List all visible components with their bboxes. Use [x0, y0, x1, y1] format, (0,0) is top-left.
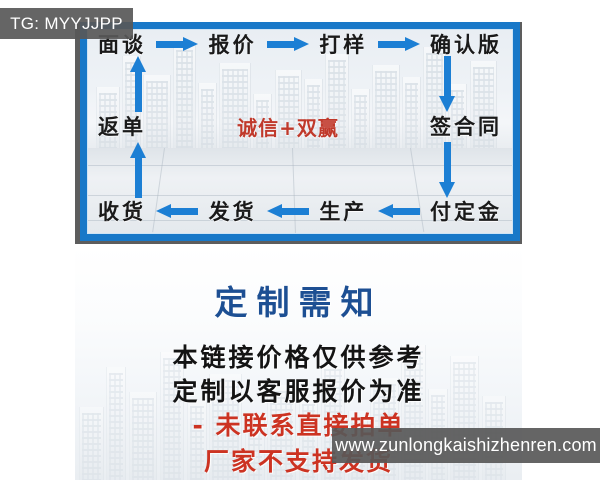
arrow-right-icon-2 — [267, 37, 309, 51]
flow-node-bao-jia: 报价 — [209, 29, 257, 59]
arrow-right-icon-1 — [156, 37, 198, 51]
flow-node-fan-dan: 返单 — [98, 111, 146, 141]
screenshot-canvas: 面谈 报价 打样 确认版 返单 诚 — [0, 0, 600, 480]
watermark-telegram-handle: TG: MYYJJPP — [0, 8, 133, 39]
flow-node-fa-huo: 发货 — [209, 196, 257, 226]
arrow-up-icon-left-upper — [130, 56, 146, 112]
notice-line-price-reference: 本链接价格仅供参考 — [75, 338, 522, 374]
flow-row-bottom: 收货 发货 生产 付定金 — [88, 193, 512, 229]
flow-chart-inner: 面谈 报价 打样 确认版 返单 诚 — [87, 29, 513, 234]
arrow-left-icon-1 — [156, 204, 198, 218]
arrow-up-icon-left-lower — [130, 142, 146, 198]
slogan-cheng-xin-shuang-ying: 诚信+双赢 — [237, 112, 339, 141]
flow-node-shou-huo: 收货 — [98, 196, 146, 226]
flow-chart-panel: 面谈 报价 打样 确认版 返单 诚 — [75, 22, 522, 244]
flow-row-middle: 返单 诚信+双赢 签合同 — [88, 108, 512, 144]
flow-node-da-yang: 打样 — [319, 29, 367, 59]
flow-node-que-ren-ban: 确认版 — [430, 29, 502, 59]
notice-line-quote-authority: 定制以客服报价为准 — [75, 372, 522, 408]
watermark-website-url: www.zunlongkaishizhenren.com — [332, 428, 600, 463]
flow-node-sheng-chan: 生产 — [319, 196, 367, 226]
flow-node-qian-he-tong: 签合同 — [430, 111, 502, 141]
flow-node-fu-ding-jin: 付定金 — [430, 196, 502, 226]
notice-title: 定制需知 — [75, 276, 522, 324]
arrow-left-icon-3 — [378, 204, 420, 218]
arrow-right-icon-3 — [378, 37, 420, 51]
arrow-down-icon-right-lower — [439, 142, 455, 198]
flow-chart-blue-frame: 面谈 报价 打样 确认版 返单 诚 — [80, 22, 520, 241]
arrow-left-icon-2 — [267, 204, 309, 218]
arrow-down-icon-right-upper — [439, 56, 455, 112]
